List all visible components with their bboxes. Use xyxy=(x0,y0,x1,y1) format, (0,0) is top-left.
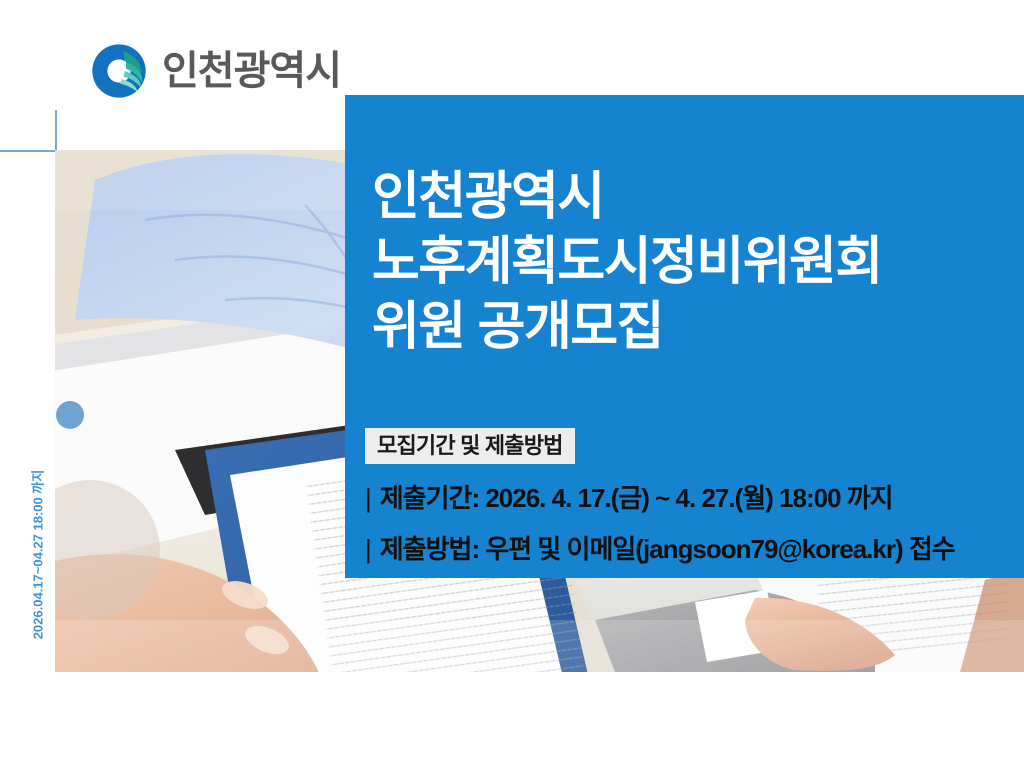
bullet-bar-icon: | xyxy=(365,534,371,565)
title-line-1: 인천광역시 xyxy=(372,165,1012,230)
info-row-submission-period: | 제출기간: 2026. 4. 17.(금) ~ 4. 27.(월) 18:0… xyxy=(365,478,1015,515)
poster-title: 인천광역시 노후계획도시정비위원회 위원 공개모집 xyxy=(372,165,1012,360)
logo-block: 인천광역시 xyxy=(90,42,341,100)
corner-rule-vertical xyxy=(55,110,57,152)
info-row-text: 제출기간: 2026. 4. 17.(금) ~ 4. 27.(월) 18:00 … xyxy=(380,478,893,515)
info-row-submission-method: | 제출방법: 우편 및 이메일(jangsoon79@korea.kr) 접수 xyxy=(365,529,1015,566)
corner-rule-horizontal xyxy=(0,150,57,152)
bullet-bar-icon: | xyxy=(365,483,371,514)
info-block: 모집기간 및 제출방법 | 제출기간: 2026. 4. 17.(금) ~ 4.… xyxy=(365,428,1015,566)
info-row-text: 제출방법: 우편 및 이메일(jangsoon79@korea.kr) 접수 xyxy=(380,529,955,566)
incheon-city-logo-icon xyxy=(90,42,148,100)
title-line-3: 위원 공개모집 xyxy=(372,295,1012,360)
title-line-2: 노후계획도시정비위원회 xyxy=(372,230,1012,295)
info-badge: 모집기간 및 제출방법 xyxy=(365,428,575,464)
side-caption-date: 2026.04.17~04.27 18:00 까지 xyxy=(28,440,47,670)
logo-text: 인천광역시 xyxy=(162,51,341,91)
